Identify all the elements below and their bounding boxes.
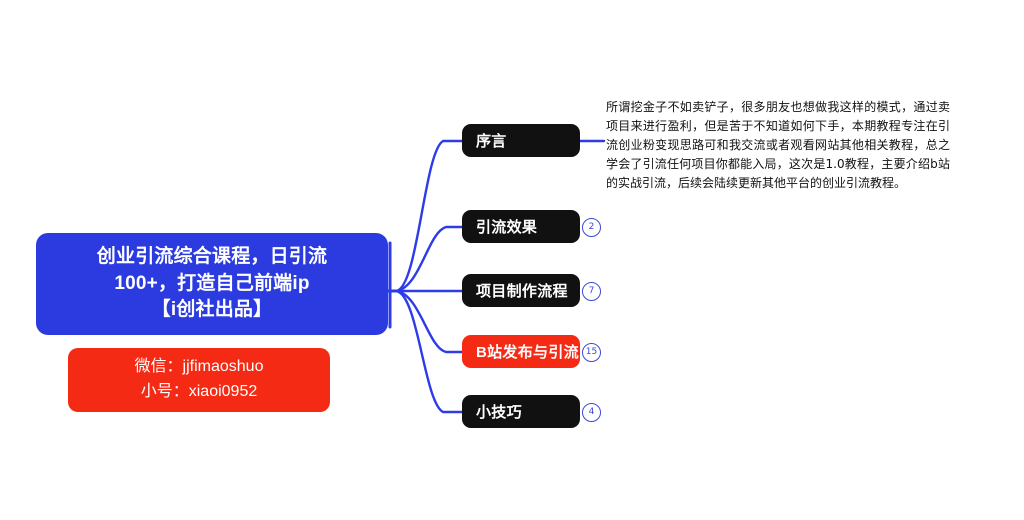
branch-label: 引流效果 — [476, 216, 537, 237]
branch-label: 项目制作流程 — [476, 280, 568, 301]
branch-node-tips[interactable]: 小技巧 — [462, 395, 580, 428]
branch-badge-project-workflow[interactable]: 7 — [582, 282, 601, 301]
branch-label: 小技巧 — [476, 401, 522, 422]
contact-wechat-line: 微信：jjfimaoshuo — [135, 355, 264, 380]
branch-badge-tips[interactable]: 4 — [582, 403, 601, 422]
root-node[interactable]: 创业引流综合课程，日引流 100+，打造自己前端ip 【i创社出品】 — [36, 233, 388, 335]
branch-badge-bilibili-publishing[interactable]: 15 — [582, 343, 601, 362]
branch-label: B站发布与引流 — [476, 341, 579, 362]
branch-label: 序言 — [476, 130, 507, 151]
branch-node-preface[interactable]: 序言 — [462, 124, 580, 157]
branch-node-bilibili-publishing[interactable]: B站发布与引流 — [462, 335, 580, 368]
branch-node-traffic-results[interactable]: 引流效果 — [462, 210, 580, 243]
branch-node-project-workflow[interactable]: 项目制作流程 — [462, 274, 580, 307]
preface-note-text: 所谓挖金子不如卖铲子，很多朋友也想做我这样的模式，通过卖项目来进行盈利，但是苦于… — [606, 98, 950, 193]
contact-card[interactable]: 微信：jjfimaoshuo 小号：xiaoi0952 — [68, 348, 330, 412]
mindmap-canvas: 创业引流综合课程，日引流 100+，打造自己前端ip 【i创社出品】 微信：jj… — [0, 0, 1024, 520]
branch-badge-traffic-results[interactable]: 2 — [582, 218, 601, 237]
root-node-title: 创业引流综合课程，日引流 100+，打造自己前端ip 【i创社出品】 — [97, 244, 327, 325]
contact-alt-line: 小号：xiaoi0952 — [141, 380, 258, 405]
